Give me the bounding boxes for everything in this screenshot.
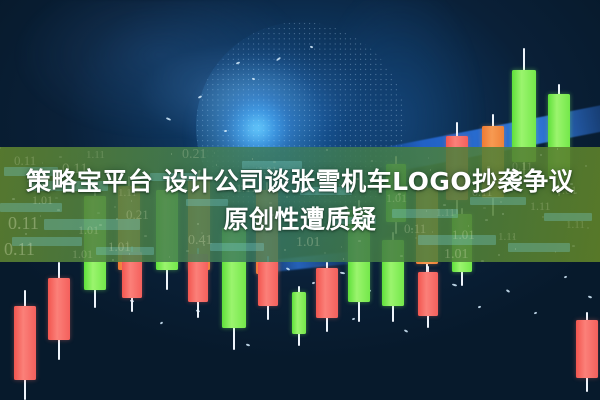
band-particle — [171, 153, 172, 155]
band-particle — [572, 245, 575, 247]
band-particle — [555, 251, 556, 253]
price-value-label: 1.11 — [86, 149, 105, 161]
band-particle — [540, 154, 542, 156]
band-particle — [29, 242, 31, 244]
band-particle — [203, 244, 205, 246]
band-particle — [400, 255, 403, 257]
candle-body — [14, 306, 36, 380]
band-particle — [252, 158, 253, 160]
candle-body — [48, 278, 70, 340]
data-bar — [508, 243, 570, 252]
candle-body — [576, 320, 598, 378]
band-particle — [341, 246, 342, 248]
band-particle — [214, 152, 215, 154]
band-particle — [324, 252, 326, 254]
band-particle — [112, 259, 114, 261]
band-particle — [428, 157, 429, 159]
candle-body — [418, 272, 438, 316]
band-particle — [358, 240, 361, 242]
band-particle — [59, 156, 62, 158]
band-particle — [169, 256, 170, 258]
band-particle — [371, 160, 373, 162]
data-bar — [210, 243, 264, 251]
band-particle — [284, 249, 286, 251]
band-particle — [186, 250, 189, 252]
band-particle — [557, 148, 558, 150]
headline-line-1: 策略宝平台 设计公司谈张雪机车LOGO抄袭争议 — [0, 163, 600, 201]
band-particle — [498, 254, 500, 256]
price-value-label: 1.01 — [444, 247, 469, 262]
candle-body — [258, 262, 278, 306]
band-particle — [0, 147, 1, 149]
headline-line-2: 原创性遭质疑 — [0, 201, 600, 239]
headline: 策略宝平台 设计公司谈张雪机车LOGO抄袭争议 原创性遭质疑 — [0, 163, 600, 239]
candle-body — [292, 292, 306, 334]
band-particle — [326, 149, 328, 151]
band-particle — [110, 247, 112, 249]
price-value-label: 1.01 — [72, 247, 93, 262]
cover-image: 0.111.110.111.011.110.111.010.111.010.21… — [0, 0, 600, 400]
candle-body — [316, 268, 338, 318]
price-value-label: 0.21 — [182, 147, 207, 163]
band-particle — [343, 258, 344, 260]
band-particle — [481, 260, 484, 262]
